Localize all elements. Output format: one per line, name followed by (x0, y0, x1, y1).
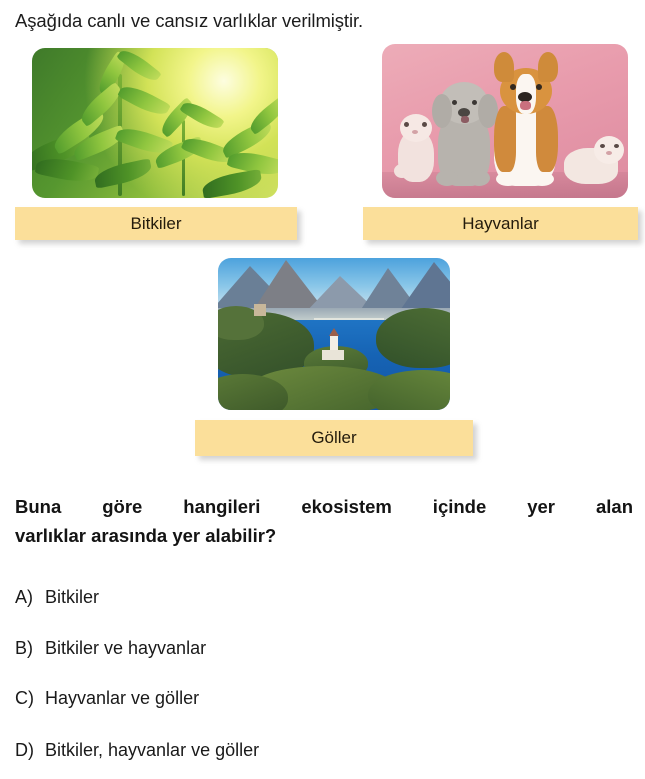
church-roof (329, 328, 339, 336)
animals-image (382, 44, 628, 198)
option-c-label: Hayvanlar ve göller (45, 688, 199, 708)
option-d-label: Bitkiler, hayvanlar ve göller (45, 740, 259, 760)
option-a-label: Bitkiler (45, 587, 99, 607)
question-text: Buna göre hangileri ekosistem içinde yer… (15, 492, 633, 550)
caption-lakes: Göller (195, 420, 473, 456)
option-c[interactable]: C)Hayvanlar ve göller (15, 686, 199, 710)
plants-image (32, 48, 278, 198)
option-a[interactable]: A)Bitkiler (15, 585, 99, 609)
option-b-label: Bitkiler ve hayvanlar (45, 638, 206, 658)
caption-plants: Bitkiler (15, 207, 297, 240)
option-d[interactable]: D)Bitkiler, hayvanlar ve göller (15, 738, 259, 762)
castle-shape (254, 304, 266, 316)
caption-lakes-label: Göller (311, 428, 356, 448)
option-c-letter: C) (15, 686, 45, 710)
caption-plants-label: Bitkiler (130, 214, 181, 234)
caption-animals-label: Hayvanlar (462, 214, 539, 234)
question-line-1: Buna göre hangileri ekosistem içinde yer… (15, 492, 633, 521)
page-intro-text: Aşağıda canlı ve cansız varlıklar verilm… (15, 9, 363, 33)
lakes-image (218, 258, 450, 410)
question-line-2: varlıklar arasında yer alabilir? (15, 521, 633, 550)
option-d-letter: D) (15, 738, 45, 762)
church-body (322, 350, 344, 360)
option-a-letter: A) (15, 585, 45, 609)
caption-animals: Hayvanlar (363, 207, 638, 240)
option-b-letter: B) (15, 636, 45, 660)
option-b[interactable]: B)Bitkiler ve hayvanlar (15, 636, 206, 660)
